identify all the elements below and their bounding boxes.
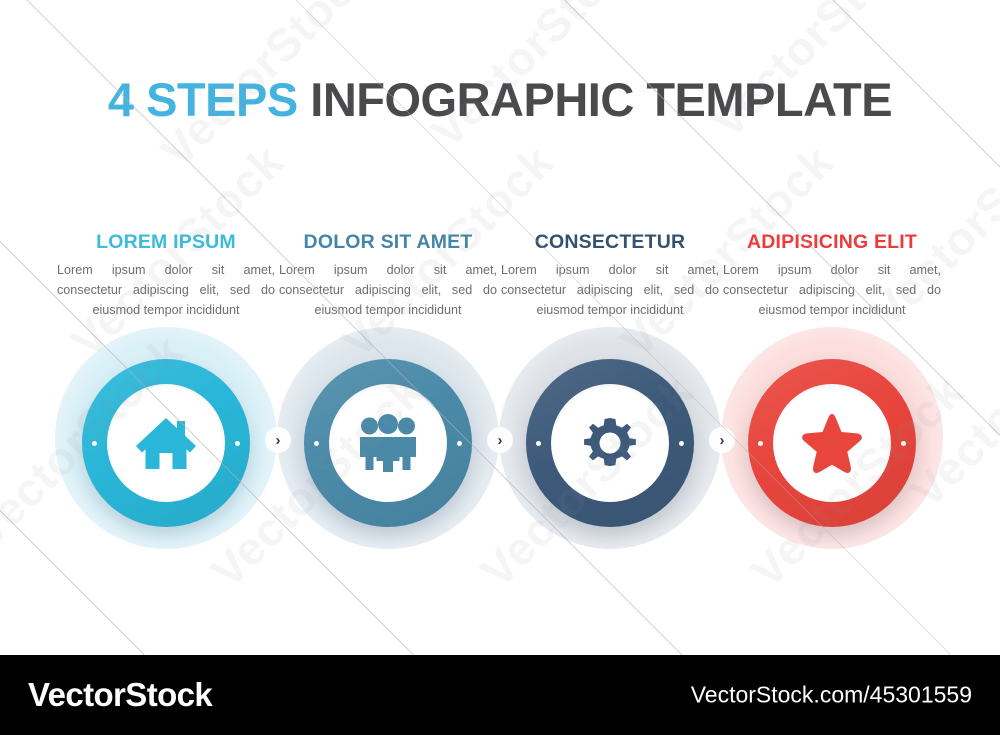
- step-3-dot-left: [536, 441, 541, 446]
- step-3-circle[interactable]: [499, 327, 721, 559]
- step-4-circle[interactable]: [721, 327, 943, 559]
- page-title-rest: INFOGRAPHIC TEMPLATE: [298, 73, 892, 126]
- footer-url: VectorStock.com/45301559: [691, 682, 972, 709]
- connector-arrow-3: ›: [709, 427, 735, 453]
- chevron-right-icon: ›: [720, 433, 725, 448]
- step-4-heading: ADIPISICING ELIT: [721, 232, 943, 253]
- step-2-dot-left: [314, 441, 319, 446]
- step-2-dot-right: [457, 441, 462, 446]
- people-group-icon: [356, 414, 420, 472]
- gear-icon: [580, 413, 640, 473]
- step-1-ring[interactable]: [82, 359, 250, 527]
- step-3-heading: CONSECTETUR: [499, 232, 721, 253]
- step-3-icon-plate: [551, 384, 669, 502]
- step-1-heading: LOREM IPSUM: [55, 232, 277, 253]
- step-2-ring[interactable]: [304, 359, 472, 527]
- step-2-heading: DOLOR SIT AMET: [277, 232, 499, 253]
- chevron-right-icon: ›: [276, 433, 281, 448]
- connector-arrow-2: ›: [487, 427, 513, 453]
- step-1-circle[interactable]: [55, 327, 277, 559]
- step-2[interactable]: DOLOR SIT AMETLorem ipsum dolor sit amet…: [277, 232, 499, 559]
- page-title-accent: 4 STEPS: [108, 73, 298, 126]
- chevron-right-icon: ›: [498, 433, 503, 448]
- step-3-description: Lorem ipsum dolor sit amet, consectetur …: [499, 261, 721, 321]
- step-3[interactable]: CONSECTETURLorem ipsum dolor sit amet, c…: [499, 232, 721, 559]
- step-4-description: Lorem ipsum dolor sit amet, consectetur …: [721, 261, 943, 321]
- step-4-dot-left: [758, 441, 763, 446]
- step-1-description: Lorem ipsum dolor sit amet, consectetur …: [55, 261, 277, 321]
- connector-arrow-1: ›: [265, 427, 291, 453]
- infographic-canvas: 4 STEPS INFOGRAPHIC TEMPLATE LOREM IPSUM…: [0, 0, 1000, 655]
- home-icon: [135, 415, 197, 471]
- step-3-ring[interactable]: [526, 359, 694, 527]
- step-1-icon-plate: [107, 384, 225, 502]
- footer-bar: VectorStock VectorStock.com/45301559: [0, 655, 1000, 735]
- step-4-icon-plate: [773, 384, 891, 502]
- step-1-dot-right: [235, 441, 240, 446]
- step-1[interactable]: LOREM IPSUMLorem ipsum dolor sit amet, c…: [55, 232, 277, 559]
- step-4[interactable]: ADIPISICING ELITLorem ipsum dolor sit am…: [721, 232, 943, 559]
- footer-brand: VectorStock: [28, 676, 212, 714]
- step-2-circle[interactable]: [277, 327, 499, 559]
- step-4-ring[interactable]: [748, 359, 916, 527]
- star-icon: [801, 413, 863, 473]
- step-4-dot-right: [901, 441, 906, 446]
- step-2-description: Lorem ipsum dolor sit amet, consectetur …: [277, 261, 499, 321]
- step-3-dot-right: [679, 441, 684, 446]
- step-2-icon-plate: [329, 384, 447, 502]
- step-1-dot-left: [92, 441, 97, 446]
- page-title: 4 STEPS INFOGRAPHIC TEMPLATE: [0, 72, 1000, 127]
